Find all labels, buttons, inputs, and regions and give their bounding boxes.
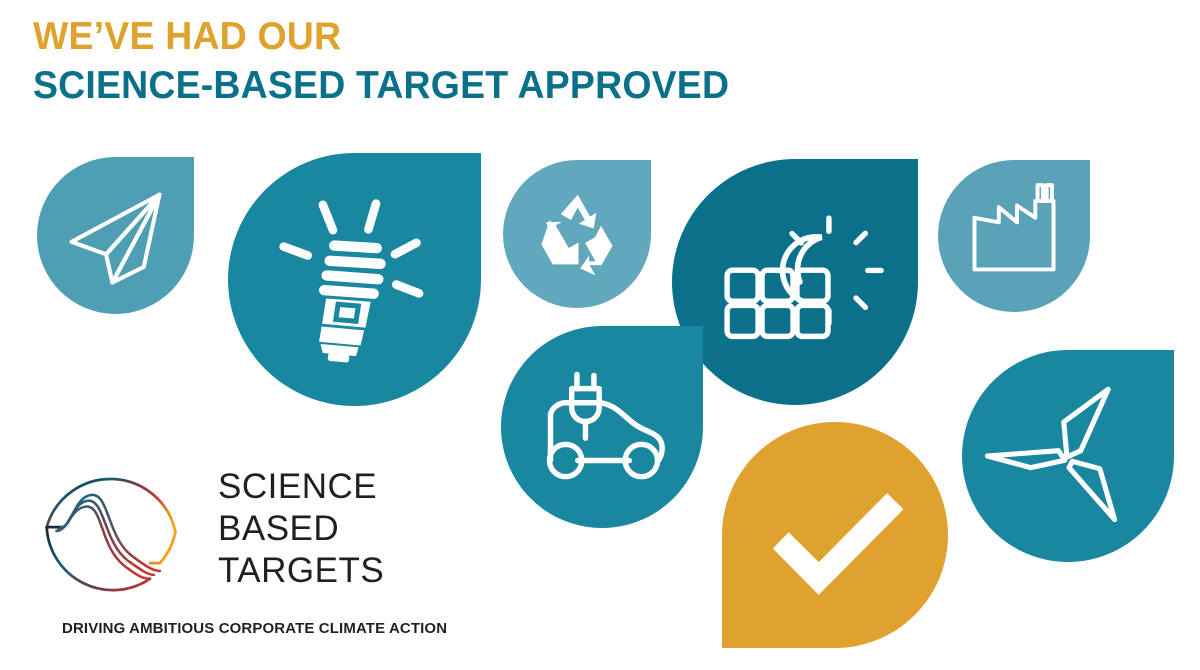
pin-solar [672, 159, 918, 405]
pin-lightbulb [228, 153, 481, 406]
pin-electric-car [501, 326, 703, 528]
logo-word-2: BASED [218, 508, 384, 550]
pin-paper-plane [37, 157, 194, 314]
pin-shape [501, 326, 703, 528]
pin-factory [938, 160, 1090, 312]
headline-line-2: SCIENCE-BASED TARGET APPROVED [33, 65, 897, 106]
pin-shape [722, 422, 948, 648]
page-title: WE’VE HAD OUR SCIENCE-BASED TARGET APPRO… [33, 16, 933, 107]
pin-recycle [503, 160, 651, 308]
logo-tagline: DRIVING AMBITIOUS CORPORATE CLIMATE ACTI… [62, 620, 447, 637]
pin-shape [938, 160, 1090, 312]
headline-line-1: WE’VE HAD OUR [33, 16, 897, 57]
pin-checkmark [722, 422, 948, 648]
logo-word-1: SCIENCE [218, 466, 384, 508]
sbt-logo-mark-icon [35, 452, 191, 608]
poster-canvas: WE’VE HAD OUR SCIENCE-BASED TARGET APPRO… [0, 0, 1200, 670]
science-based-targets-logo: SCIENCE BASED TARGETS DRIVING AMBITIOUS … [30, 452, 430, 652]
pin-shape [37, 157, 194, 314]
logo-wordmark: SCIENCE BASED TARGETS [218, 466, 384, 592]
pin-shape [503, 160, 651, 308]
logo-word-3: TARGETS [218, 550, 384, 592]
pin-wind-turbine [962, 350, 1174, 562]
